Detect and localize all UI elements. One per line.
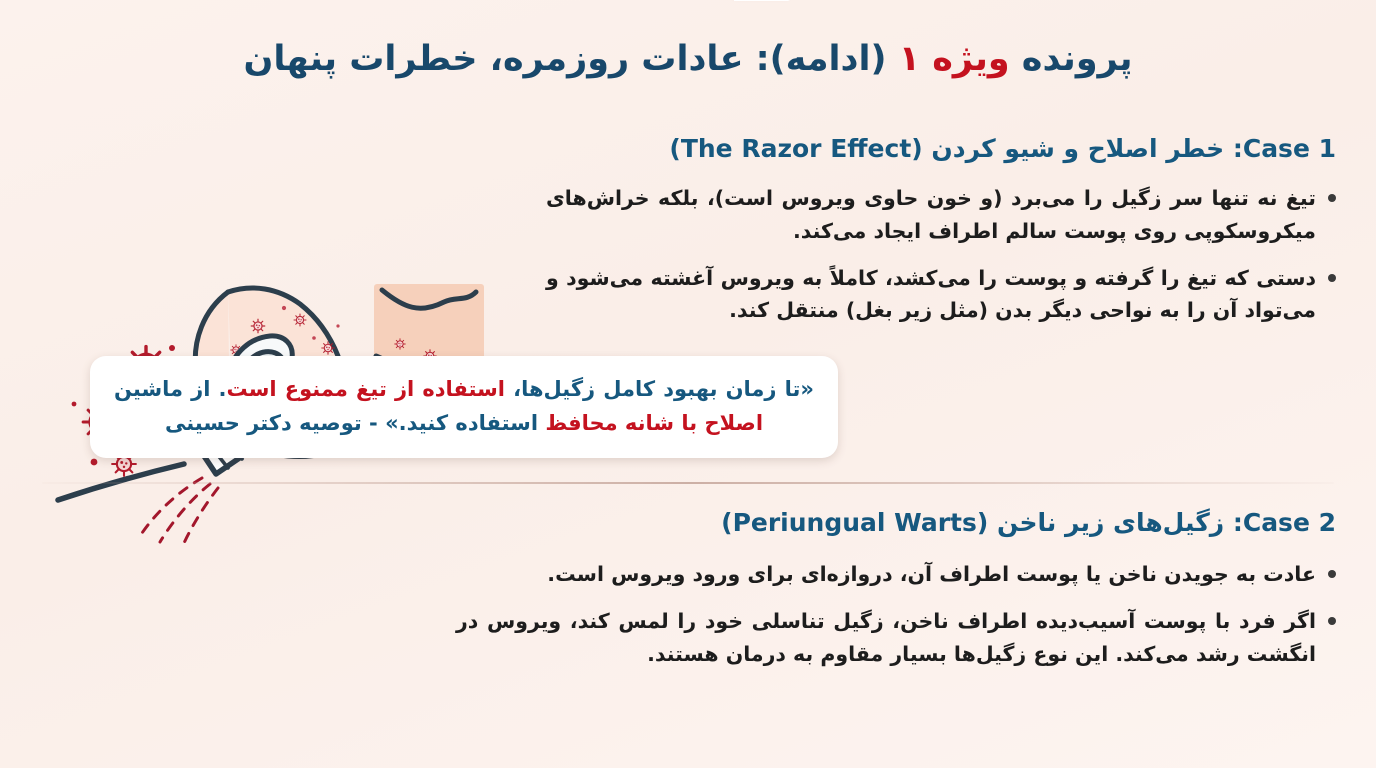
bullet-dot-icon	[1328, 274, 1336, 282]
list-item: عادت به جویدن ناخن یا پوست اطراف آن، درو…	[456, 558, 1336, 591]
case-1-heading: Case 1: خطر اصلاح و شیو کردن (The Razor …	[669, 134, 1336, 163]
bullet-text: اگر فرد با پوست آسیب‌دیده اطراف ناخن، زگ…	[456, 605, 1316, 671]
callout-pointer-icon	[734, 0, 790, 1]
page-title-accent: ویژه ۱	[899, 39, 1010, 79]
bullet-dot-icon	[1328, 194, 1336, 202]
list-item: اگر فرد با پوست آسیب‌دیده اطراف ناخن، زگ…	[456, 605, 1336, 671]
quote-seg-4: استفاده کنید.» - توصیه دکتر حسینی	[165, 411, 545, 435]
quote-seg-3-highlight: اصلاح با شانه محافظ	[545, 411, 763, 435]
bullet-dot-icon	[1328, 570, 1336, 578]
page-title-after: (ادامه): عادات روزمره، خطرات پنهان	[243, 39, 898, 79]
doctor-advice-quote: «تا زمان بهبود کامل زگیل‌ها، استفاده از …	[90, 356, 838, 458]
case-2-bullet-list: عادت به جویدن ناخن یا پوست اطراف آن، درو…	[456, 558, 1336, 686]
quote-seg-0: «تا زمان بهبود کامل زگیل‌ها،	[505, 377, 814, 401]
page-title: پرونده ویژه ۱ (ادامه): عادات روزمره، خطر…	[46, 36, 1330, 83]
list-item: دستی که تیغ را گرفته و پوست را می‌کشد، ک…	[546, 262, 1336, 328]
bullet-text: دستی که تیغ را گرفته و پوست را می‌کشد، ک…	[546, 262, 1316, 328]
quote-text: «تا زمان بهبود کامل زگیل‌ها، استفاده از …	[114, 372, 814, 440]
section-divider	[42, 482, 1334, 484]
page-title-before: پرونده	[1010, 39, 1133, 79]
quote-seg-1-highlight: استفاده از تیغ ممنوع است	[227, 377, 505, 401]
bullet-text: تیغ نه تنها سر زگیل را می‌برد (و خون حاو…	[546, 182, 1316, 248]
quote-seg-2: . از ماشین	[114, 377, 227, 401]
bullet-text: عادت به جویدن ناخن یا پوست اطراف آن، درو…	[456, 558, 1316, 591]
infographic-canvas: پرونده ویژه ۱ (ادامه): عادات روزمره، خطر…	[0, 0, 1376, 768]
case-1-bullet-list: تیغ نه تنها سر زگیل را می‌برد (و خون حاو…	[546, 182, 1336, 341]
bullet-dot-icon	[1328, 617, 1336, 625]
section-case-2: Case 2: زگیل‌های زیر ناخن (Periungual Wa…	[0, 500, 1376, 765]
case-2-heading: Case 2: زگیل‌های زیر ناخن (Periungual Wa…	[721, 508, 1336, 537]
list-item: تیغ نه تنها سر زگیل را می‌برد (و خون حاو…	[546, 182, 1336, 248]
